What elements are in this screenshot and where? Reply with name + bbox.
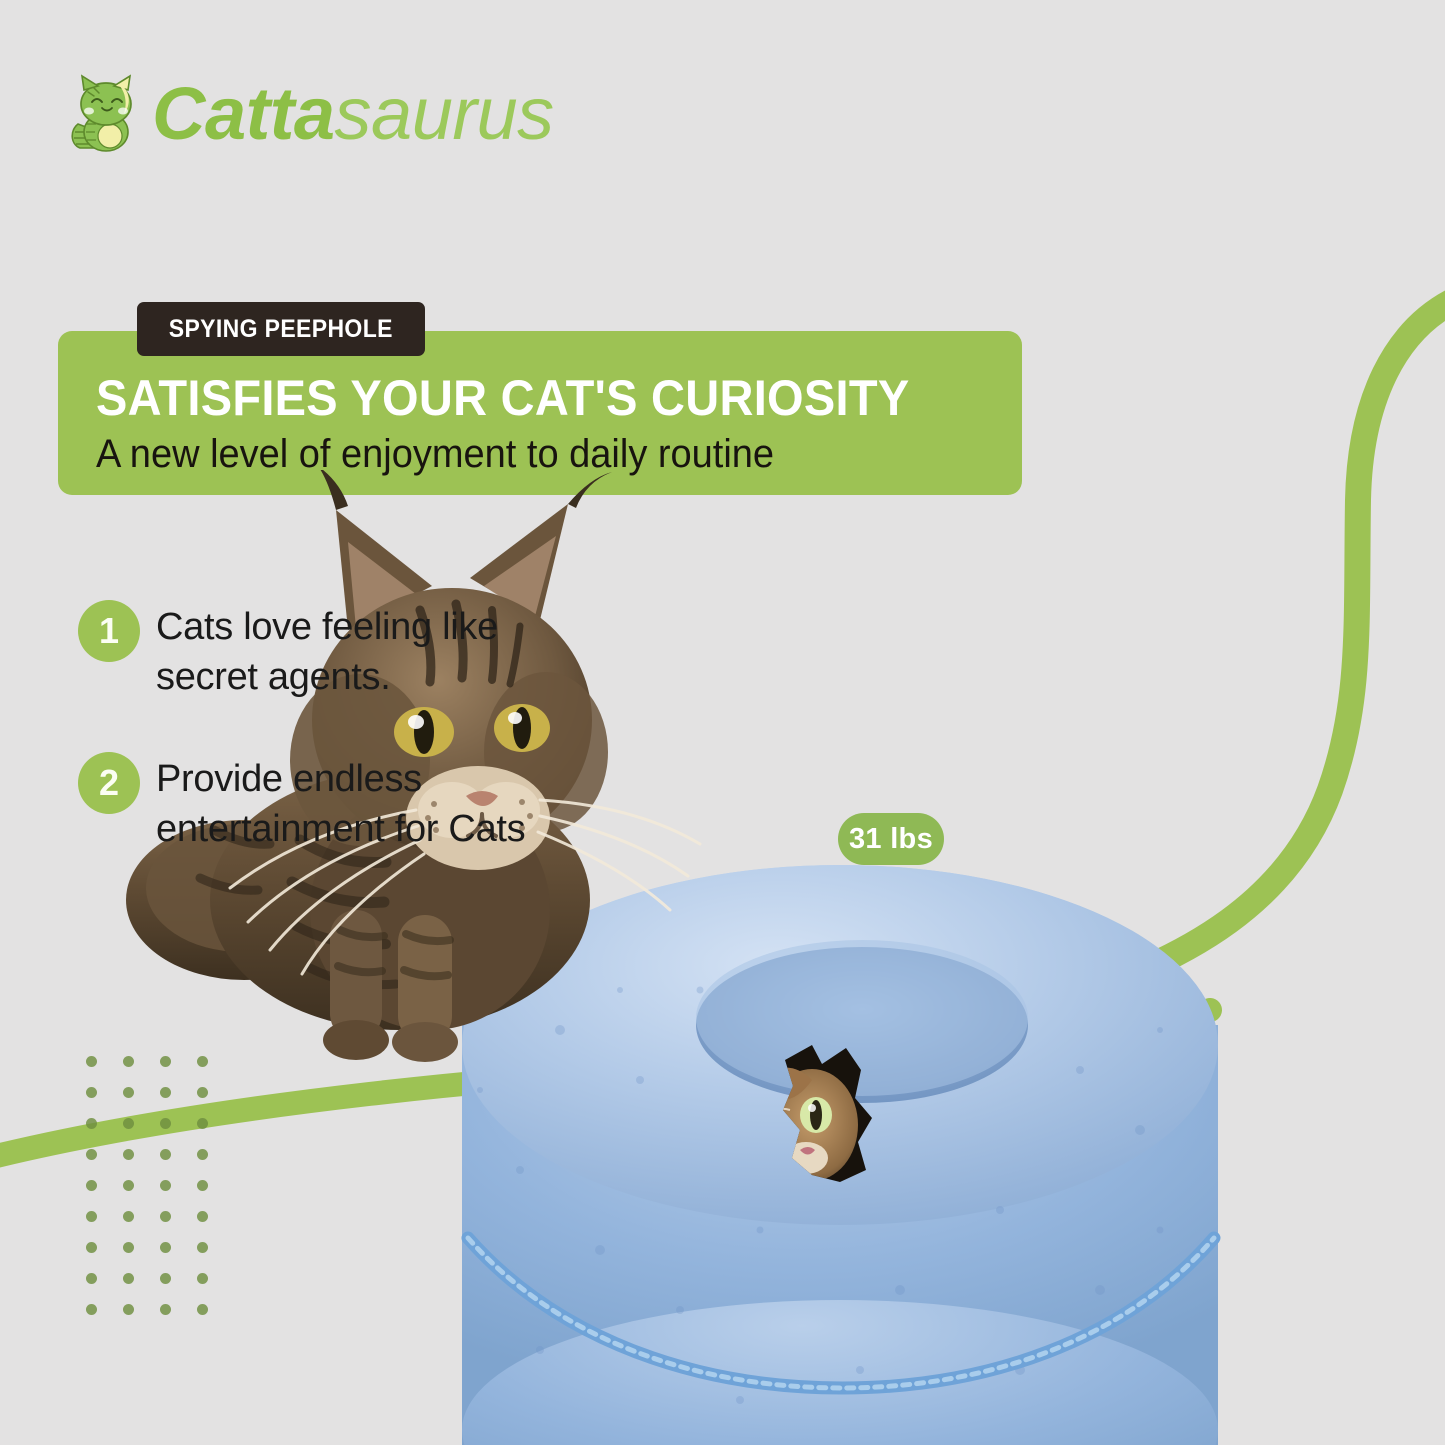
- cat-paw-right: [392, 1022, 458, 1062]
- dot: [197, 1087, 208, 1098]
- dot: [86, 1180, 97, 1191]
- bed-zipper: [468, 1238, 1214, 1388]
- dot: [123, 1118, 134, 1129]
- dot: [160, 1056, 171, 1067]
- feature-list: 1 Cats love feeling like secret agents. …: [78, 598, 548, 903]
- cat-bed-donut: [462, 865, 1218, 1445]
- weight-badge-label: 31 lbs: [849, 825, 933, 854]
- feature-item: 1 Cats love feeling like secret agents.: [78, 598, 548, 702]
- dot: [86, 1211, 97, 1222]
- dot-row: [86, 1211, 208, 1222]
- dot: [160, 1180, 171, 1191]
- peeking-cat-eye: [800, 1097, 832, 1133]
- brand-logo: Cattasaurus: [68, 68, 554, 160]
- brand-name-light: saurus: [335, 72, 554, 155]
- headline-subtitle: A new level of enjoyment to daily routin…: [96, 431, 959, 477]
- dot: [160, 1087, 171, 1098]
- dot: [123, 1242, 134, 1253]
- dot: [86, 1304, 97, 1315]
- peephole-opening: [783, 1045, 872, 1182]
- bed-side-wall: [462, 1025, 1218, 1445]
- dot: [86, 1056, 97, 1067]
- dot-grid-decoration: [86, 1056, 208, 1335]
- dot: [197, 1304, 208, 1315]
- brand-name-bold: Catta: [152, 72, 335, 155]
- dot: [160, 1211, 171, 1222]
- dot: [197, 1118, 208, 1129]
- weight-badge: 31 lbs: [838, 813, 944, 865]
- dot: [197, 1211, 208, 1222]
- dot: [123, 1087, 134, 1098]
- dot: [86, 1242, 97, 1253]
- peephole: [766, 1045, 872, 1182]
- dot-row: [86, 1087, 208, 1098]
- cat-paw-left: [323, 1020, 389, 1060]
- dot: [160, 1149, 171, 1160]
- dot: [86, 1273, 97, 1284]
- eyebrow-label: SPYING PEEPHOLE: [169, 315, 393, 344]
- dot: [86, 1087, 97, 1098]
- dot: [123, 1180, 134, 1191]
- cat-front-legs: [323, 910, 458, 1062]
- dot: [123, 1149, 134, 1160]
- dot: [123, 1211, 134, 1222]
- headline-title: SATISFIES YOUR CAT'S CURIOSITY: [96, 371, 950, 425]
- cat-mascot-icon: [68, 74, 142, 154]
- dot: [123, 1056, 134, 1067]
- feature-item: 2 Provide endless entertainment for Cats: [78, 750, 548, 854]
- dot-row: [86, 1304, 208, 1315]
- swoosh-right-curve: [1060, 300, 1445, 1000]
- feature-text: Cats love feeling like secret agents.: [156, 598, 548, 702]
- dot: [160, 1273, 171, 1284]
- dot: [123, 1304, 134, 1315]
- dot: [197, 1273, 208, 1284]
- product-infographic: Cattasaurus SATISFIES YOUR CAT'S CURIOSI…: [0, 0, 1445, 1445]
- felt-texture: [477, 967, 1164, 1404]
- brand-wordmark: Cattasaurus: [152, 77, 554, 151]
- feature-number-badge: 1: [78, 600, 140, 662]
- dot: [160, 1118, 171, 1129]
- dot: [160, 1242, 171, 1253]
- peeking-cat-face: [766, 1068, 858, 1181]
- dot: [197, 1149, 208, 1160]
- bed-inner-hole: [696, 947, 1028, 1103]
- bed-outer-top: [462, 865, 1218, 1225]
- dot-row: [86, 1149, 208, 1160]
- dot: [86, 1149, 97, 1160]
- dot: [197, 1242, 208, 1253]
- dot-row: [86, 1180, 208, 1191]
- dot-row: [86, 1273, 208, 1284]
- dot: [197, 1056, 208, 1067]
- feature-text: Provide endless entertainment for Cats: [156, 750, 548, 854]
- dot: [86, 1118, 97, 1129]
- dot: [197, 1180, 208, 1191]
- bed-bottom-curve: [462, 1300, 1218, 1445]
- dot-row: [86, 1118, 208, 1129]
- dot-row: [86, 1056, 208, 1067]
- dot-row: [86, 1242, 208, 1253]
- dot: [123, 1273, 134, 1284]
- dot: [160, 1304, 171, 1315]
- eyebrow-badge: SPYING PEEPHOLE: [137, 302, 425, 356]
- feature-number-badge: 2: [78, 752, 140, 814]
